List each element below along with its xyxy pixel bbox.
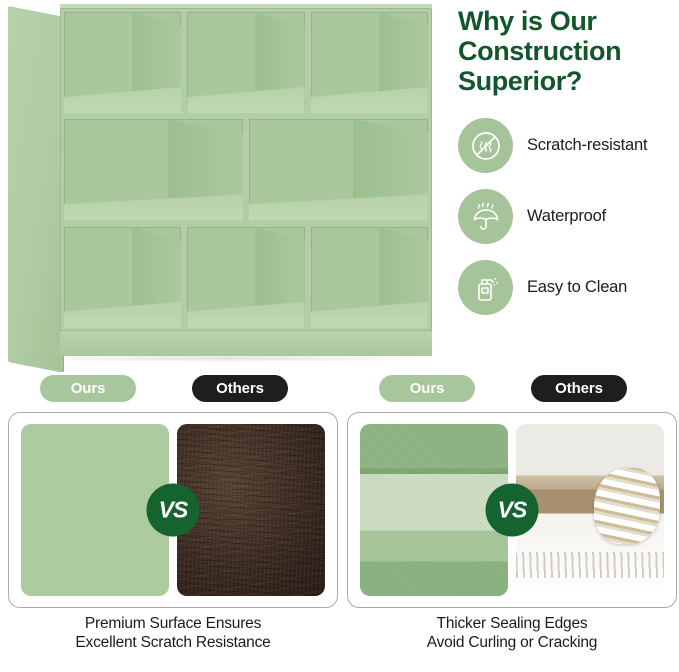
badge-row: Ours Others [8,372,338,408]
comparison-caption: Thicker Sealing Edges Avoid Curling or C… [347,615,677,652]
feature-item-easy-to-clean: Easy to Clean [458,260,679,315]
cube [311,12,428,113]
bookshelf-row-middle [64,119,428,220]
bookshelf-row-bottom [64,227,428,328]
hero-section: Why is Our Construction Superior? Scratc… [0,0,679,372]
umbrella-waterproof-icon [458,189,513,244]
no-scratch-icon [458,118,513,173]
badge-row: Ours Others [347,372,677,408]
feature-label: Easy to Clean [527,278,627,297]
product-infographic: Why is Our Construction Superior? Scratc… [0,0,679,672]
bookshelf-base-plinth [60,330,432,356]
copy-column: Why is Our Construction Superior? Scratc… [458,0,679,372]
comparison-panel-scratch: Ours Others VS Premium Surface Ensures E… [8,372,338,672]
cube [187,12,304,113]
cube [311,227,428,328]
caption-line-1: Thicker Sealing Edges [347,615,677,634]
comparison-caption: Premium Surface Ensures Excellent Scratc… [8,615,338,652]
page-title: Why is Our Construction Superior? [458,6,679,96]
bookshelf-side-panel [8,6,64,372]
vs-badge: VS [147,484,200,537]
cube [64,227,181,328]
feature-list: Scratch-resistant Waterproof [458,118,679,315]
product-photo [0,0,442,372]
caption-line-2: Excellent Scratch Resistance [8,634,338,653]
badge-others: Others [531,375,627,402]
bookshelf-row-top [64,12,428,113]
cube [64,12,181,113]
comparison-panel-edges: Ours Others VS Thicker Sealing Edges Avo… [347,372,677,672]
feature-item-waterproof: Waterproof [458,189,679,244]
cube [249,119,428,220]
feature-label: Waterproof [527,207,606,226]
comparison-card: VS [347,412,677,608]
spray-bottle-icon [458,260,513,315]
bookshelf-drop-shadow [14,355,434,362]
bookshelf-illustration [4,2,438,370]
comparison-section: Ours Others VS Premium Surface Ensures E… [0,372,679,672]
feature-item-scratch-resistant: Scratch-resistant [458,118,679,173]
caption-line-2: Avoid Curling or Cracking [347,634,677,653]
cube [187,227,304,328]
vs-badge: VS [486,484,539,537]
comparison-card: VS [8,412,338,608]
badge-others: Others [192,375,288,402]
caption-line-1: Premium Surface Ensures [8,615,338,634]
badge-ours: Ours [40,375,136,402]
badge-ours: Ours [379,375,475,402]
bookshelf-cube-grid [64,12,428,328]
feature-label: Scratch-resistant [527,136,647,155]
cube [64,119,243,220]
